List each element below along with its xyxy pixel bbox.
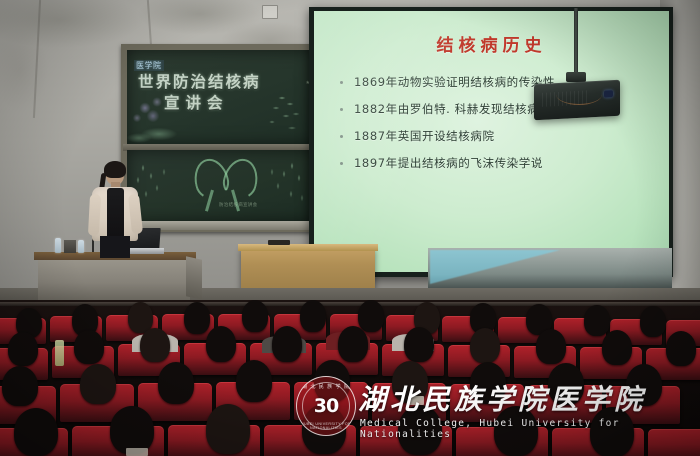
audience-head: [80, 364, 116, 404]
slide-bullet-item: 1887年英国开设结核病院: [338, 129, 655, 144]
audience-head: [358, 300, 384, 332]
audience-head: [584, 305, 610, 336]
blackboard-lower-caption: 防治结核病宣讲会: [219, 202, 257, 208]
blackboard-title: 世界防治结核病 宣讲会: [138, 72, 303, 114]
audience-head: [404, 327, 434, 362]
audience-head: [494, 406, 538, 456]
audience-water-bottle: [55, 340, 64, 366]
audience-head: [8, 332, 38, 366]
audience-head: [640, 306, 666, 337]
audience-head: [272, 326, 302, 362]
audience-head: [398, 405, 442, 455]
presenter-shirt: [107, 188, 124, 240]
projection-screen: 结核病历史 1869年动物实验证明结核病的传染性 1882年由罗伯特. 科赫发现…: [314, 11, 669, 272]
presenter-hair: [104, 161, 126, 178]
audience-head: [470, 328, 500, 363]
audience-head: [666, 331, 696, 366]
audience-head: [2, 366, 38, 406]
audience-head: [590, 407, 634, 456]
audience-paper: [126, 448, 148, 456]
audience-head: [338, 326, 368, 362]
audience-head: [242, 300, 268, 332]
audience-head: [602, 330, 632, 365]
audience-paper: [408, 396, 424, 405]
audience-head: [184, 302, 210, 334]
audience-head: [110, 406, 154, 454]
projector-mount-bracket: [566, 72, 586, 82]
audience-head: [302, 404, 346, 454]
presenter-desk: [38, 258, 190, 302]
lectern-object: [268, 240, 290, 245]
blackboard-lower-panel: 防治结核病宣讲会: [127, 150, 312, 222]
audience-head: [158, 362, 194, 404]
audience-head: [314, 360, 350, 402]
projector-lens: [604, 90, 613, 97]
auditorium-seat: [648, 429, 700, 456]
wall-switch-box: [262, 5, 278, 19]
presenter-lower-body: [100, 236, 130, 258]
audience-head: [206, 404, 250, 454]
audience-head: [300, 300, 326, 332]
lectern-top: [238, 244, 378, 251]
slide-title: 结核病历史: [314, 31, 669, 56]
chalk-willow-right: [258, 154, 310, 216]
audience-head: [236, 360, 272, 402]
blackboard-title-line2: 宣讲会: [164, 93, 303, 114]
blackboard-header-label: 医学院: [134, 60, 164, 71]
projector-mount-pole: [574, 8, 578, 74]
presenter: [84, 164, 146, 256]
awareness-ribbon-icon: [220, 155, 263, 202]
audience-head: [140, 328, 170, 362]
presenter-desk-side: [186, 256, 202, 299]
audience-head: [14, 408, 58, 456]
audience-head: [626, 364, 662, 406]
audience-head: [536, 329, 566, 364]
projector-cable: [556, 84, 602, 105]
blackboard-upper-panel: 医学院 世界防治结核病 宣讲会 ★: [127, 50, 312, 145]
audience-area: [0, 300, 700, 456]
audience-head: [206, 326, 236, 362]
slide-bullet-item: 1897年提出结核病的飞沫传染学说: [338, 156, 655, 171]
lecture-hall-photo: 医学院 世界防治结核病 宣讲会 ★ 防治结核病宣讲会 结核病历史 1869年动物…: [0, 0, 700, 456]
audience-head: [548, 363, 584, 405]
projector-light-beam: [430, 250, 560, 284]
presenter-arm: [88, 194, 101, 237]
desk-cup: [64, 240, 76, 253]
water-bottle: [55, 238, 61, 253]
audience-head: [74, 330, 104, 364]
blackboard-title-line1: 世界防治结核病: [138, 73, 261, 91]
audience-head: [470, 362, 506, 404]
